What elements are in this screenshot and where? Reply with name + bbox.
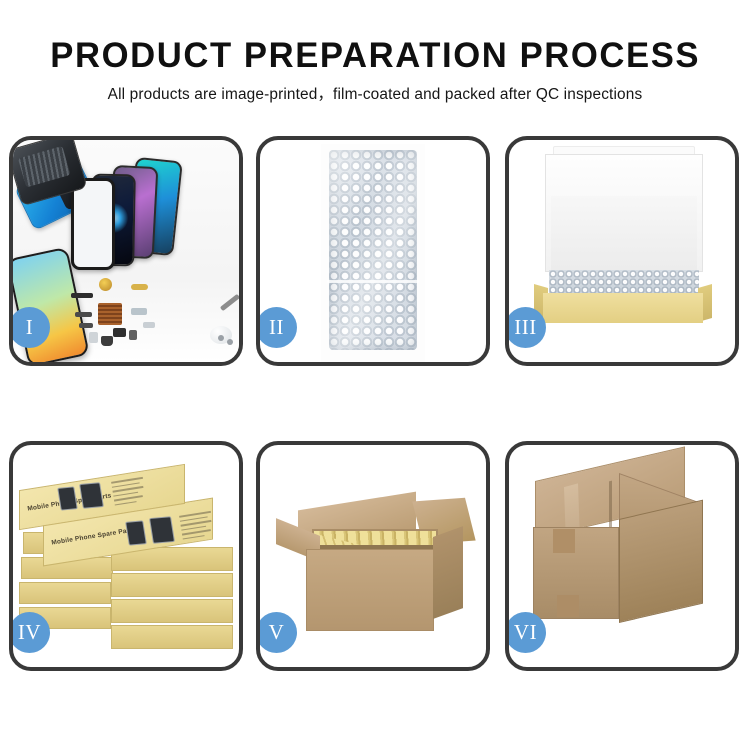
- bubble-wrap-seam: [327, 280, 419, 283]
- component-flex-cable: [131, 284, 148, 290]
- component-bracket: [143, 322, 155, 328]
- inner-box-interior: [551, 196, 697, 270]
- process-step-2: II: [256, 136, 490, 366]
- retail-box-stack: Mobile Phone Spare Parts Mobile Phone Sp…: [17, 469, 239, 659]
- retail-box-screen-thumb-2: [79, 482, 104, 509]
- component-button: [129, 330, 137, 340]
- sealed-carton-tab-top: [553, 529, 575, 553]
- step-badge-4: IV: [9, 612, 50, 653]
- component-tweezers: [220, 294, 239, 311]
- step-badge-2: II: [256, 307, 297, 348]
- component-speaker: [71, 293, 93, 298]
- header: PRODUCT PREPARATION PROCESS All products…: [0, 0, 750, 125]
- component-chip: [113, 328, 126, 337]
- bubble-wrap-highlight: [329, 150, 417, 350]
- page-subtitle: All products are image-printed，film-coat…: [108, 87, 643, 102]
- page-title: PRODUCT PREPARATION PROCESS: [50, 38, 700, 73]
- carton-front-panel: [306, 549, 434, 631]
- component-sim-tray: [89, 332, 98, 343]
- retail-box-screen-thumb-4: [149, 516, 175, 544]
- retail-box-screen-thumb-1: [57, 486, 78, 510]
- retail-box-spec-lines-2: [179, 511, 217, 543]
- retail-box-screen-thumb-3: [125, 520, 147, 545]
- retail-box-spec-lines-1: [111, 477, 149, 509]
- sealed-carton-side-panel: [619, 500, 703, 623]
- step-badge-6: VI: [505, 612, 546, 653]
- product-preparation-infographic: PRODUCT PREPARATION PROCESS All products…: [0, 0, 750, 750]
- component-connector: [75, 312, 92, 317]
- process-step-1: I: [9, 136, 243, 366]
- process-step-5: V: [256, 441, 490, 671]
- component-screw-2: [227, 339, 233, 345]
- step-badge-5: V: [256, 612, 297, 653]
- step-badge-1: I: [9, 307, 50, 348]
- process-step-grid: I II III: [9, 136, 743, 686]
- sealed-carton-tab-bottom: [557, 595, 579, 617]
- process-step-4: Mobile Phone Spare Parts Mobile Phone Sp…: [9, 441, 243, 671]
- retail-box-side-r4: [111, 599, 233, 623]
- process-step-6: VI: [505, 441, 739, 671]
- component-camera-module: [101, 336, 113, 346]
- component-screw-1: [218, 335, 224, 341]
- process-step-3: III: [505, 136, 739, 366]
- step-badge-3: III: [505, 307, 546, 348]
- component-ribbon: [131, 308, 147, 315]
- retail-box-side-r5: [111, 625, 233, 649]
- component-vibrator-motor: [99, 278, 112, 291]
- component-antenna: [79, 323, 93, 328]
- carton-right-panel: [433, 526, 463, 619]
- retail-box-side-r3: [111, 573, 233, 597]
- inner-box-front-panel: [543, 293, 703, 323]
- retail-box-side-l4: [19, 582, 111, 604]
- component-copper-shield: [98, 303, 122, 325]
- phone-glass-panel: [71, 178, 115, 270]
